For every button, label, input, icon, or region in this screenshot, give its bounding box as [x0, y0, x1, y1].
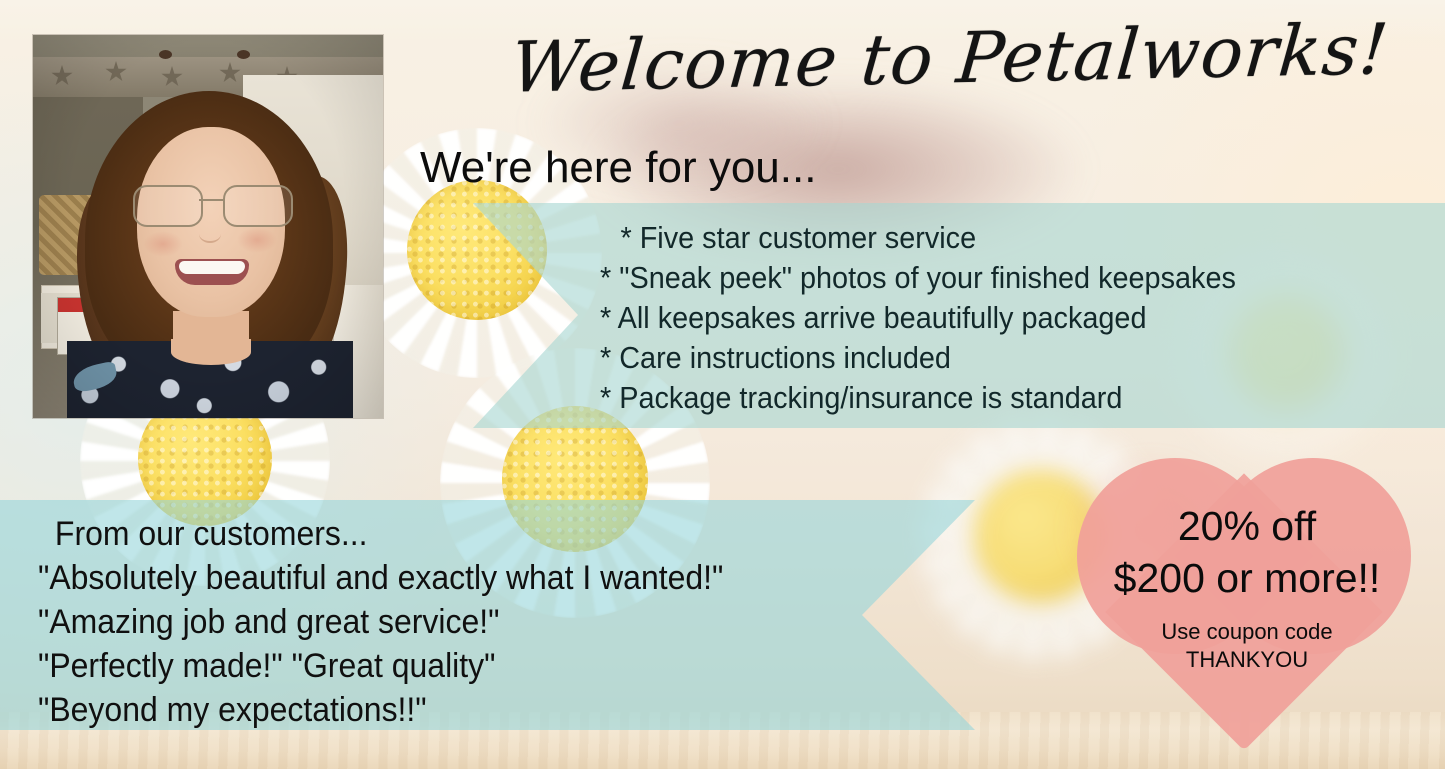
coupon-code: THANKYOU [1082, 646, 1412, 674]
features-list: * Five star customer service * "Sneak pe… [600, 218, 1430, 418]
coupon-threshold-line: $200 or more!! [1082, 552, 1412, 604]
feature-item: * Package tracking/insurance is standard [600, 378, 1372, 418]
owner-portrait-photo [33, 35, 383, 418]
promo-banner: Welcome to Petalworks! We're here for yo… [0, 0, 1445, 769]
feature-item: * Five star customer service [600, 218, 1372, 258]
feature-item: * Care instructions included [600, 338, 1372, 378]
coupon-instruction: Use coupon code [1082, 618, 1412, 646]
feature-item: * "Sneak peek" photos of your finished k… [600, 258, 1372, 298]
testimonial-quote: "Perfectly made!" "Great quality" [38, 644, 931, 688]
subheading: We're here for you... [420, 143, 816, 193]
feature-item: * All keepsakes arrive beautifully packa… [600, 298, 1372, 338]
coupon-offer: 20% off $200 or more!! Use coupon code T… [1082, 500, 1412, 674]
photo-vignette [33, 35, 383, 418]
testimonial-quote: "Amazing job and great service!" [38, 600, 931, 644]
coupon-discount-line: 20% off [1082, 500, 1412, 552]
testimonial-quote: "Beyond my expectations!!" [38, 688, 931, 732]
testimonials-list: From our customers... "Absolutely beauti… [38, 512, 988, 732]
testimonial-quote: "Absolutely beautiful and exactly what I… [38, 556, 931, 600]
testimonials-heading: From our customers... [38, 512, 931, 556]
page-title: Welcome to Petalworks! [508, 9, 1337, 108]
